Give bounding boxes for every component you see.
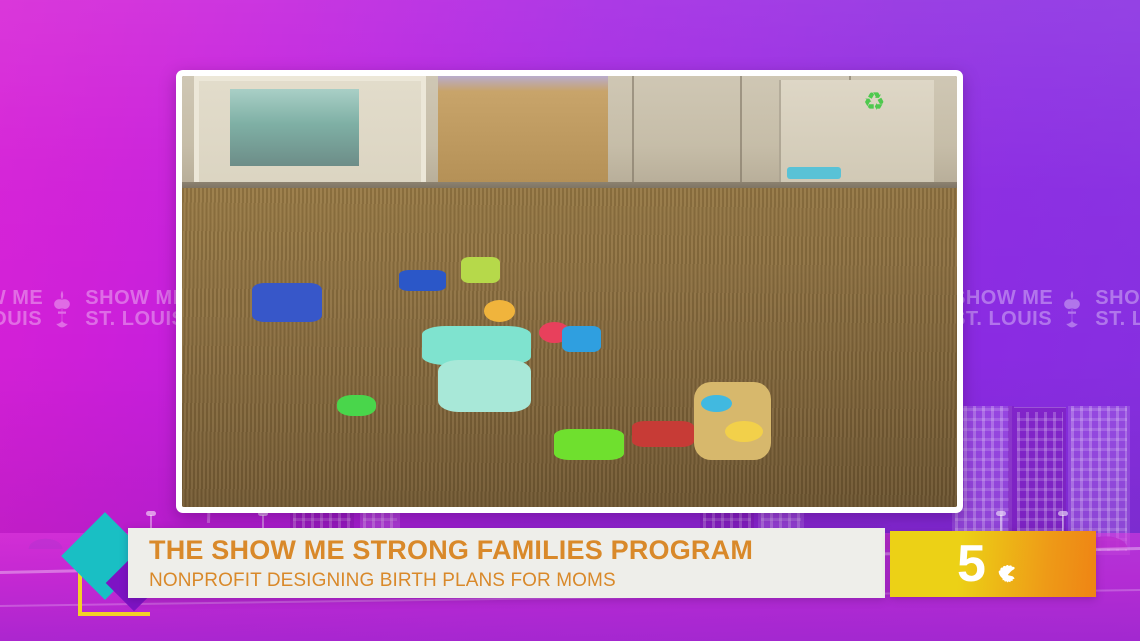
headline-text: THE SHOW ME STRONG FAMILIES PROGRAM: [149, 537, 885, 564]
nbc-peacock-icon: [987, 549, 1029, 583]
watermark-line1: SHOW ME: [1095, 288, 1140, 309]
watermark-line2: ST. LOUIS: [1095, 309, 1140, 330]
lower-third-banner: THE SHOW ME STRONG FAMILIES PROGRAM NONP…: [128, 528, 885, 598]
station-logo: 5: [890, 531, 1096, 597]
story-photo-frame: ♻: [176, 70, 963, 513]
channel-number: 5: [957, 543, 986, 586]
broadcast-frame: SHOW ME ST. LOUIS SHOW ME ST. LOUIS SHOW…: [0, 0, 1140, 641]
watermark-line1: SHOW ME: [85, 288, 186, 309]
recycle-icon: ♻: [861, 89, 887, 115]
fleur-de-lis-icon: [49, 289, 75, 329]
watermark-right: SHOW ME ST. LOUIS SHOW ME ST. LOUIS: [952, 288, 1140, 330]
fleur-de-lis-icon: [1059, 289, 1085, 329]
subhead-text: NONPROFIT DESIGNING BIRTH PLANS FOR MOMS: [149, 571, 885, 590]
watermark-line2: ST. LOUIS: [0, 309, 43, 330]
story-photo: ♻: [182, 76, 957, 507]
storage-bin: [779, 80, 934, 196]
watermark-line2: ST. LOUIS: [85, 309, 186, 330]
watermark-line1: SHOW ME: [952, 288, 1053, 309]
watermark-line1: SHOW ME: [0, 288, 43, 309]
watermark-line2: ST. LOUIS: [952, 309, 1053, 330]
